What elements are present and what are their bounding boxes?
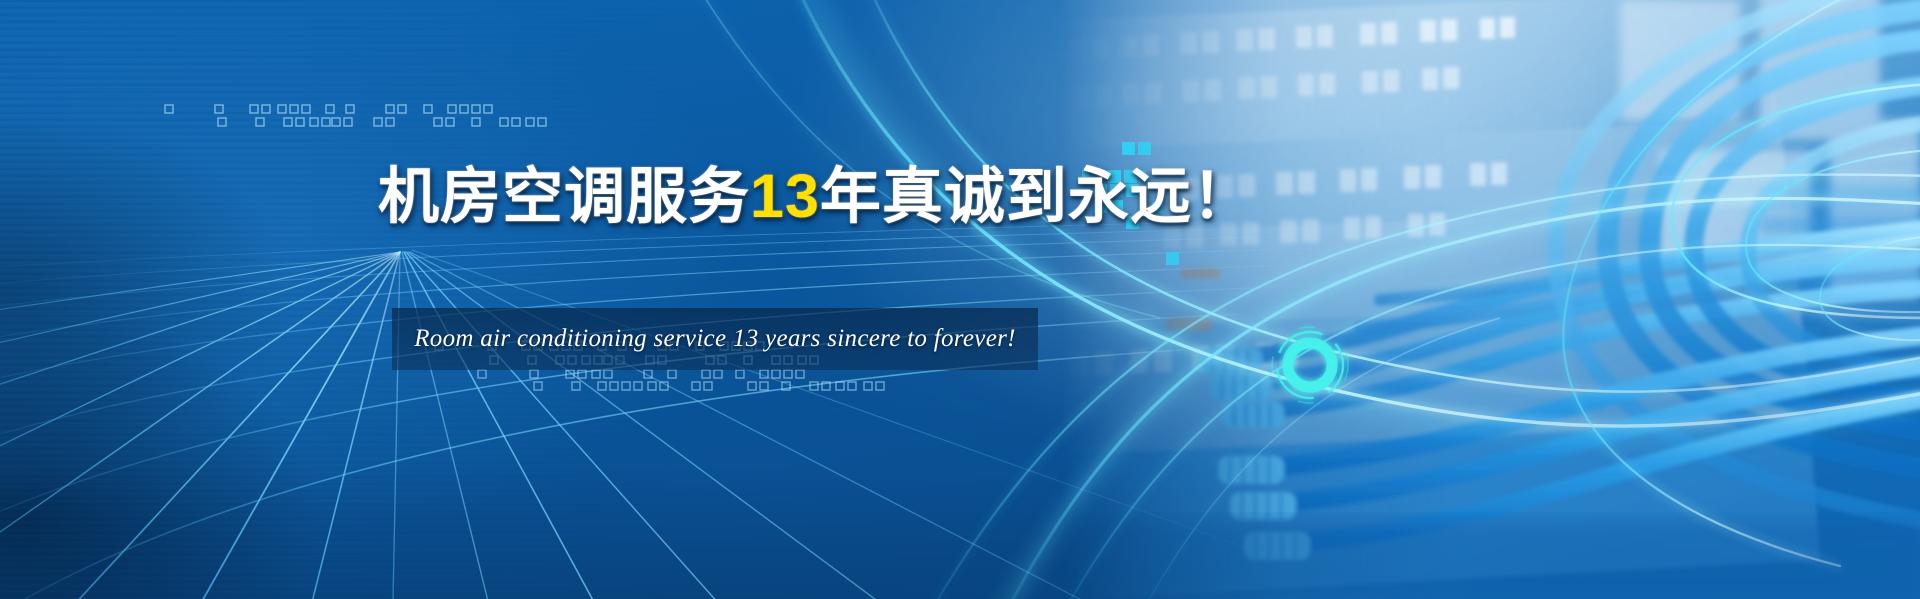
decorative-square-pattern-top <box>160 98 560 136</box>
headline-number: 13 <box>750 162 820 230</box>
hero-banner: 机房空调服务13年真诚到永远！ Room air conditioning se… <box>0 0 1920 599</box>
headline-suffix: 年真诚到永远！ <box>820 162 1254 230</box>
page-subtitle: Room air conditioning service 13 years s… <box>392 308 1038 370</box>
page-title: 机房空调服务13年真诚到永远！ <box>378 161 1254 231</box>
light-arcs-graphic <box>0 0 1920 599</box>
headline-prefix: 机房空调服务 <box>378 162 750 230</box>
hud-ring-icon <box>1263 318 1357 412</box>
